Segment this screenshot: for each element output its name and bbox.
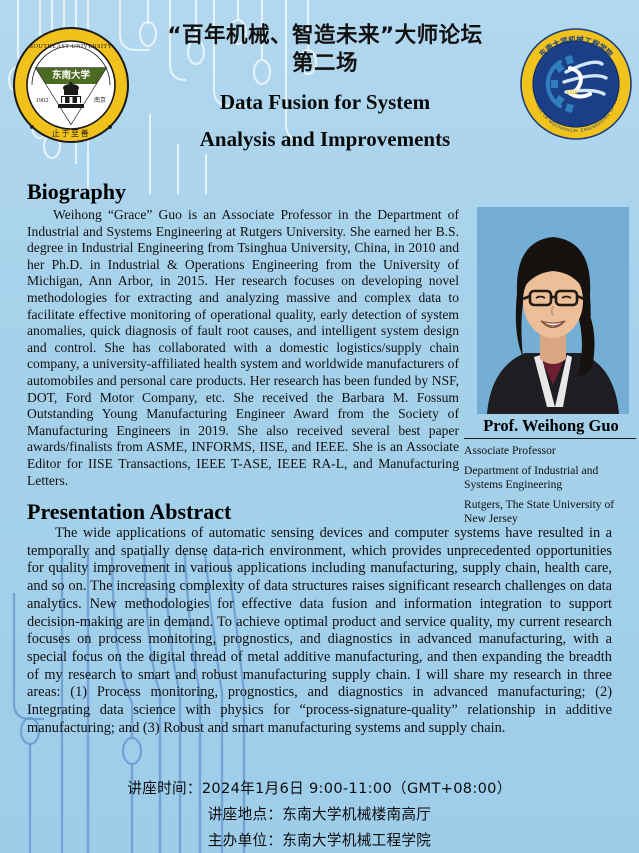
southeast-university-logo-icon: SOUTHEAST UNIVERSITY 东南大学 1902 南京 止于至善	[12, 26, 130, 144]
abstract-body: The wide applications of automatic sensi…	[27, 525, 612, 736]
talk-title-english-line2: Analysis and Improvements	[140, 125, 510, 153]
biography-heading: Biography	[27, 179, 126, 205]
svg-text:1916: 1916	[566, 90, 577, 96]
speaker-name: Prof. Weihong Guo	[463, 416, 639, 436]
svg-text:止于至善: 止于至善	[52, 128, 90, 138]
svg-text:1902: 1902	[36, 97, 49, 104]
event-host-line: 主办单位：东南大学机械工程学院	[0, 829, 639, 850]
poster-header: SOUTHEAST UNIVERSITY 东南大学 1902 南京 止于至善	[0, 0, 639, 175]
speaker-affiliation-university: Rutgers, The State University of New Jer…	[464, 498, 636, 525]
forum-title-chinese-line2: 第二场	[140, 50, 510, 78]
poster-canvas: SOUTHEAST UNIVERSITY 东南大学 1902 南京 止于至善	[0, 0, 639, 853]
biography-text: Weihong “Grace” Guo is an Associate Prof…	[27, 207, 459, 489]
speaker-photo	[477, 207, 629, 414]
event-time-line: 讲座时间：2024年1月6日 9:00-11:00（GMT+08:00）	[0, 777, 639, 798]
speaker-divider	[464, 438, 636, 439]
svg-text:东南大学: 东南大学	[52, 69, 91, 81]
talk-title-english-line1: Data Fusion for System	[140, 88, 510, 116]
event-location-line: 讲座地点：东南大学机械楼南高厅	[0, 803, 639, 824]
speaker-affiliation-department: Department of Industrial and Systems Eng…	[464, 464, 636, 491]
svg-text:南京: 南京	[94, 96, 106, 104]
forum-title-chinese-line1: “百年机械、智造未来”大师论坛	[140, 22, 510, 50]
biography-body: Weihong “Grace” Guo is an Associate Prof…	[27, 207, 459, 488]
school-mechanical-engineering-logo-icon: 东南大学机械工程学院 SCHOOL OF MECHANICAL ENGINEER…	[520, 28, 632, 140]
speaker-affiliation-title: Associate Professor	[464, 444, 636, 458]
svg-text:SOUTHEAST UNIVERSITY: SOUTHEAST UNIVERSITY	[30, 43, 113, 50]
abstract-text: The wide applications of automatic sensi…	[27, 525, 612, 737]
abstract-heading: Presentation Abstract	[27, 499, 231, 525]
poster-title-block: “百年机械、智造未来”大师论坛 第二场 Data Fusion for Syst…	[140, 22, 510, 153]
